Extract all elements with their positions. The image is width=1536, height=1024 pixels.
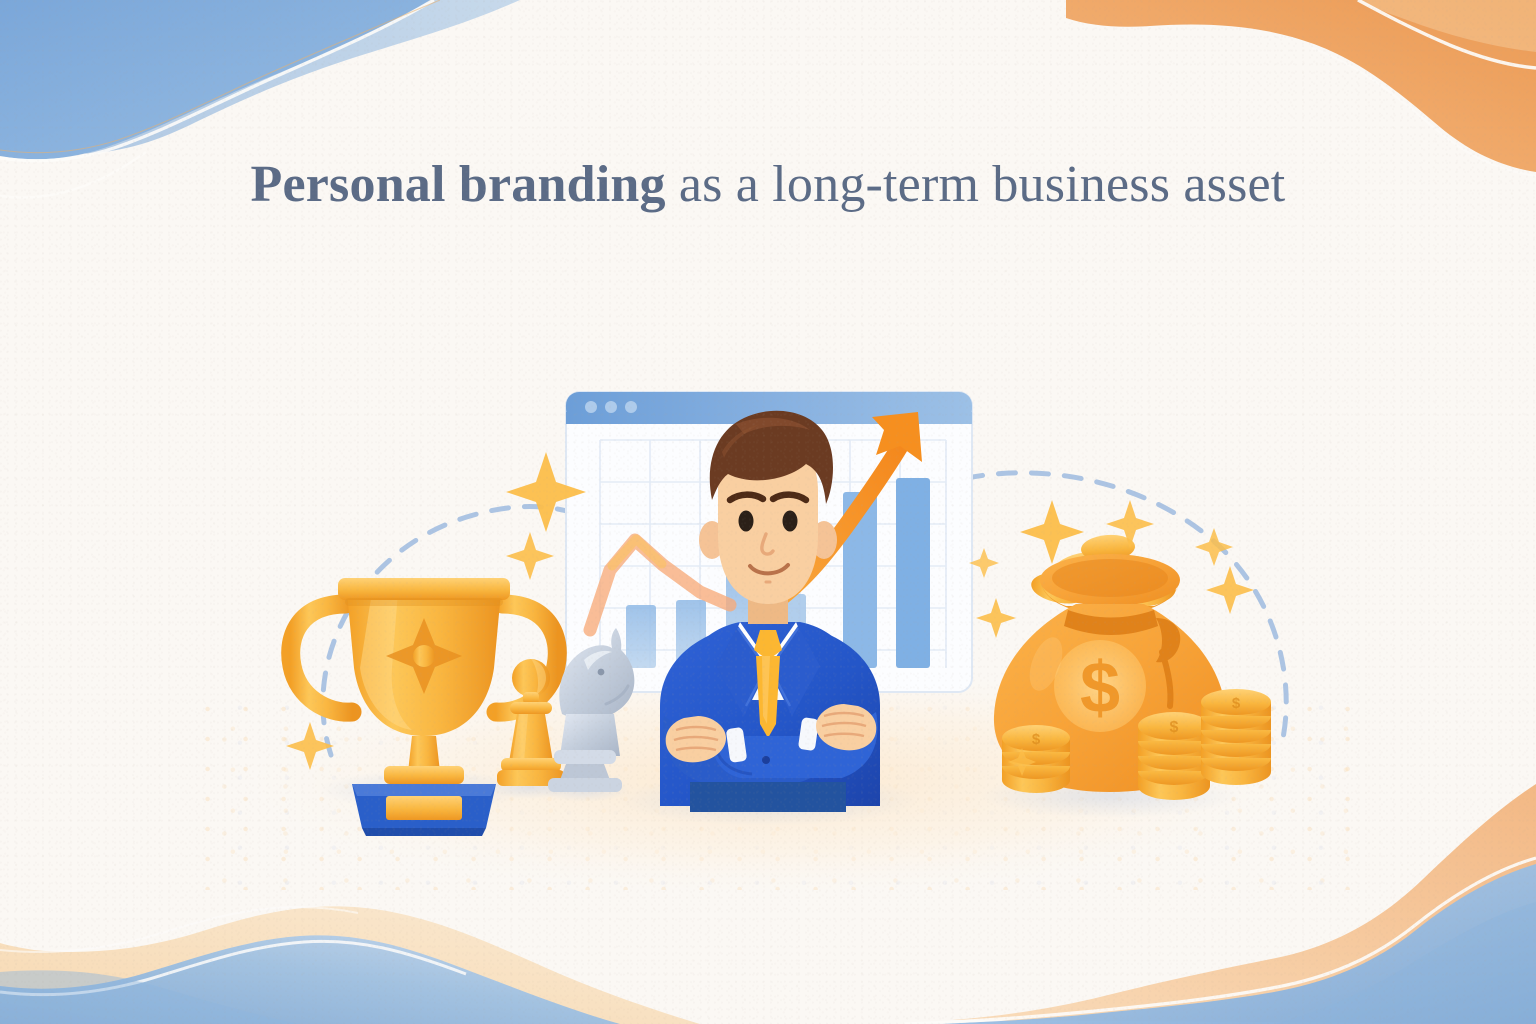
pawn-base-ring [501,758,561,772]
trophy-foot [384,766,464,784]
browser-dot-2 [605,401,617,413]
trophy-plaque [386,796,462,820]
knight-stem [560,764,610,780]
poster-canvas: Personal branding as a long-term busines… [0,0,1536,1024]
suit-lower [690,782,846,812]
suit-button-1 [762,756,770,764]
sparkle-2 [506,532,554,580]
knight-neck [560,714,620,756]
sparkle-4 [1020,500,1084,564]
sparkle-7 [1195,528,1233,566]
chart-bar-1 [626,605,656,668]
sparkle-8 [1206,566,1254,614]
eye-left [739,511,754,532]
page-title: Personal branding as a long-term busines… [0,158,1536,213]
knight-base [548,778,622,792]
coin-stack-right: $ [1201,689,1271,785]
pawn-collar [510,702,552,714]
trophy-rim [338,578,510,600]
hero-illustration: $ $ $ $ [0,0,1536,1024]
coin-stack-left: $ [1002,725,1070,793]
sparkle-5 [976,598,1016,638]
knight-eye [598,669,605,676]
money-bag-dollar-sign: $ [1080,648,1120,728]
title-rest: as a long-term business asset [666,156,1286,213]
title-emphasis: Personal branding [251,156,666,213]
sparkle-9 [969,548,999,578]
coin-stack-middle: $ [1138,712,1210,800]
svg-text:$: $ [1032,731,1041,748]
knight-collar [554,750,616,764]
chart-bar-6 [896,478,930,668]
svg-text:$: $ [1170,719,1179,736]
browser-dot-3 [625,401,637,413]
browser-dot-1 [585,401,597,413]
svg-text:$: $ [1232,695,1241,712]
eye-right [783,511,798,532]
